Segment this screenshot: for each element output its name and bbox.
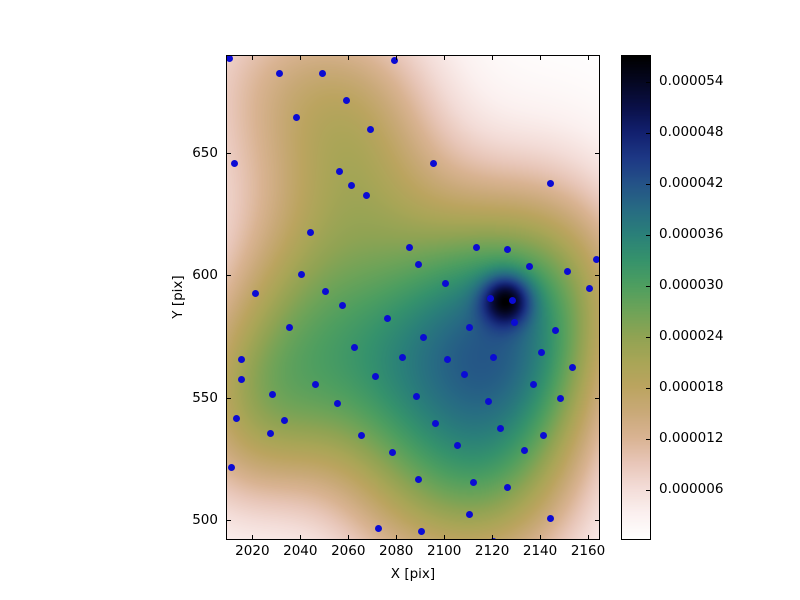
colorbar-tick-label: 0.000042 xyxy=(659,175,723,191)
y-tick-label: 600 xyxy=(192,267,218,283)
x-tick-label: 2080 xyxy=(379,543,413,559)
scatter-point xyxy=(466,324,473,331)
scatter-point xyxy=(339,302,346,309)
colorbar-tick-mark xyxy=(646,337,650,338)
x-tick-mark xyxy=(348,535,349,539)
x-tick-mark xyxy=(444,56,445,60)
scatter-point xyxy=(552,327,559,334)
scatter-point xyxy=(384,315,391,322)
y-tick-mark xyxy=(227,398,231,399)
scatter-point xyxy=(526,263,533,270)
scatter-point xyxy=(509,297,516,304)
scatter-point xyxy=(358,432,365,439)
scatter-point xyxy=(504,246,511,253)
scatter-point xyxy=(307,229,314,236)
scatter-point xyxy=(238,376,245,383)
y-tick-mark xyxy=(227,275,231,276)
scatter-point xyxy=(269,391,276,398)
scatter-point xyxy=(252,290,259,297)
x-tick-mark xyxy=(252,56,253,60)
scatter-point xyxy=(504,484,511,491)
scatter-point xyxy=(238,356,245,363)
y-tick-mark xyxy=(227,520,231,521)
colorbar xyxy=(621,55,651,540)
scatter-point xyxy=(231,160,238,167)
scatter-point xyxy=(473,244,480,251)
y-tick-mark xyxy=(595,520,599,521)
x-tick-label: 2140 xyxy=(523,543,557,559)
x-tick-label: 2100 xyxy=(427,543,461,559)
scatter-point xyxy=(228,464,235,471)
scatter-point xyxy=(557,395,564,402)
scatter-point xyxy=(521,447,528,454)
scatter-point xyxy=(432,420,439,427)
y-axis-label: Y [pix] xyxy=(170,275,186,318)
scatter-point xyxy=(286,324,293,331)
x-tick-mark xyxy=(396,535,397,539)
x-tick-mark xyxy=(300,56,301,60)
y-tick-mark xyxy=(595,153,599,154)
scatter-point xyxy=(593,256,600,263)
colorbar-tick-label: 0.000006 xyxy=(659,481,723,497)
y-tick-mark xyxy=(595,398,599,399)
colorbar-tick-label: 0.000054 xyxy=(659,73,723,89)
scatter-point xyxy=(497,425,504,432)
scatter-point xyxy=(226,55,233,62)
scatter-point xyxy=(312,381,319,388)
colorbar-tick-mark xyxy=(646,133,650,134)
scatter-point xyxy=(466,511,473,518)
x-tick-label: 2160 xyxy=(571,543,605,559)
figure-canvas: 2020204020602080210021202140216050055060… xyxy=(0,0,800,600)
scatter-point xyxy=(586,285,593,292)
scatter-point xyxy=(322,288,329,295)
y-tick-label: 500 xyxy=(192,512,218,528)
scatter-point xyxy=(547,515,554,522)
scatter-point xyxy=(415,261,422,268)
scatter-point xyxy=(454,442,461,449)
scatter-point xyxy=(485,398,492,405)
colorbar-tick-label: 0.000048 xyxy=(659,124,723,140)
scatter-point xyxy=(413,393,420,400)
y-tick-label: 550 xyxy=(192,390,218,406)
scatter-point xyxy=(420,334,427,341)
colorbar-tick-mark xyxy=(646,388,650,389)
scatter-point xyxy=(281,417,288,424)
scatter-point xyxy=(430,160,437,167)
scatter-point xyxy=(444,356,451,363)
scatter-point xyxy=(406,244,413,251)
scatter-point xyxy=(487,295,494,302)
scatter-point xyxy=(569,364,576,371)
scatter-point xyxy=(336,168,343,175)
scatter-point xyxy=(547,180,554,187)
x-tick-mark xyxy=(540,535,541,539)
x-tick-label: 2120 xyxy=(475,543,509,559)
scatter-point xyxy=(367,126,374,133)
scatter-point xyxy=(490,538,497,541)
x-tick-mark xyxy=(540,56,541,60)
x-tick-label: 2060 xyxy=(331,543,365,559)
scatter-point xyxy=(399,354,406,361)
colorbar-tick-mark xyxy=(646,184,650,185)
scatter-point xyxy=(538,349,545,356)
scatter-point xyxy=(375,525,382,532)
colorbar-tick-mark xyxy=(646,235,650,236)
y-tick-label: 650 xyxy=(192,145,218,161)
y-tick-mark xyxy=(227,153,231,154)
colorbar-tick-label: 0.000018 xyxy=(659,379,723,395)
colorbar-tick-label: 0.000012 xyxy=(659,430,723,446)
y-tick-mark xyxy=(595,275,599,276)
colorbar-tick-mark xyxy=(646,286,650,287)
scatter-point xyxy=(233,415,240,422)
scatter-point xyxy=(461,371,468,378)
plot-axes xyxy=(226,55,600,540)
x-tick-mark xyxy=(300,535,301,539)
scatter-point xyxy=(343,97,350,104)
scatter-point xyxy=(293,114,300,121)
scatter-point xyxy=(348,182,355,189)
scatter-overlay xyxy=(227,56,599,539)
scatter-point xyxy=(267,430,274,437)
colorbar-tick-label: 0.000024 xyxy=(659,328,723,344)
scatter-point xyxy=(415,476,422,483)
scatter-point xyxy=(351,344,358,351)
scatter-point xyxy=(511,319,518,326)
scatter-point xyxy=(418,528,425,535)
colorbar-tick-mark xyxy=(646,439,650,440)
colorbar-tick-label: 0.000030 xyxy=(659,277,723,293)
x-tick-mark xyxy=(252,535,253,539)
x-tick-label: 2040 xyxy=(283,543,317,559)
scatter-point xyxy=(530,381,537,388)
x-tick-mark xyxy=(492,56,493,60)
x-tick-mark xyxy=(492,535,493,539)
x-axis-label: X [pix] xyxy=(391,566,435,582)
colorbar-gradient xyxy=(622,56,650,539)
scatter-point xyxy=(389,449,396,456)
x-tick-mark xyxy=(444,535,445,539)
x-tick-mark xyxy=(588,56,589,60)
scatter-point xyxy=(319,70,326,77)
scatter-point xyxy=(372,373,379,380)
x-tick-label: 2020 xyxy=(235,543,269,559)
scatter-point xyxy=(470,479,477,486)
x-tick-mark xyxy=(588,535,589,539)
scatter-point xyxy=(564,268,571,275)
colorbar-tick-mark xyxy=(646,490,650,491)
scatter-point xyxy=(363,192,370,199)
scatter-point xyxy=(276,70,283,77)
colorbar-tick-mark xyxy=(646,82,650,83)
x-tick-mark xyxy=(396,56,397,60)
scatter-point xyxy=(298,271,305,278)
colorbar-tick-label: 0.000036 xyxy=(659,226,723,242)
scatter-point xyxy=(442,280,449,287)
scatter-point xyxy=(334,400,341,407)
x-tick-mark xyxy=(348,56,349,60)
scatter-point xyxy=(391,57,398,64)
scatter-point xyxy=(490,354,497,361)
scatter-point xyxy=(540,432,547,439)
